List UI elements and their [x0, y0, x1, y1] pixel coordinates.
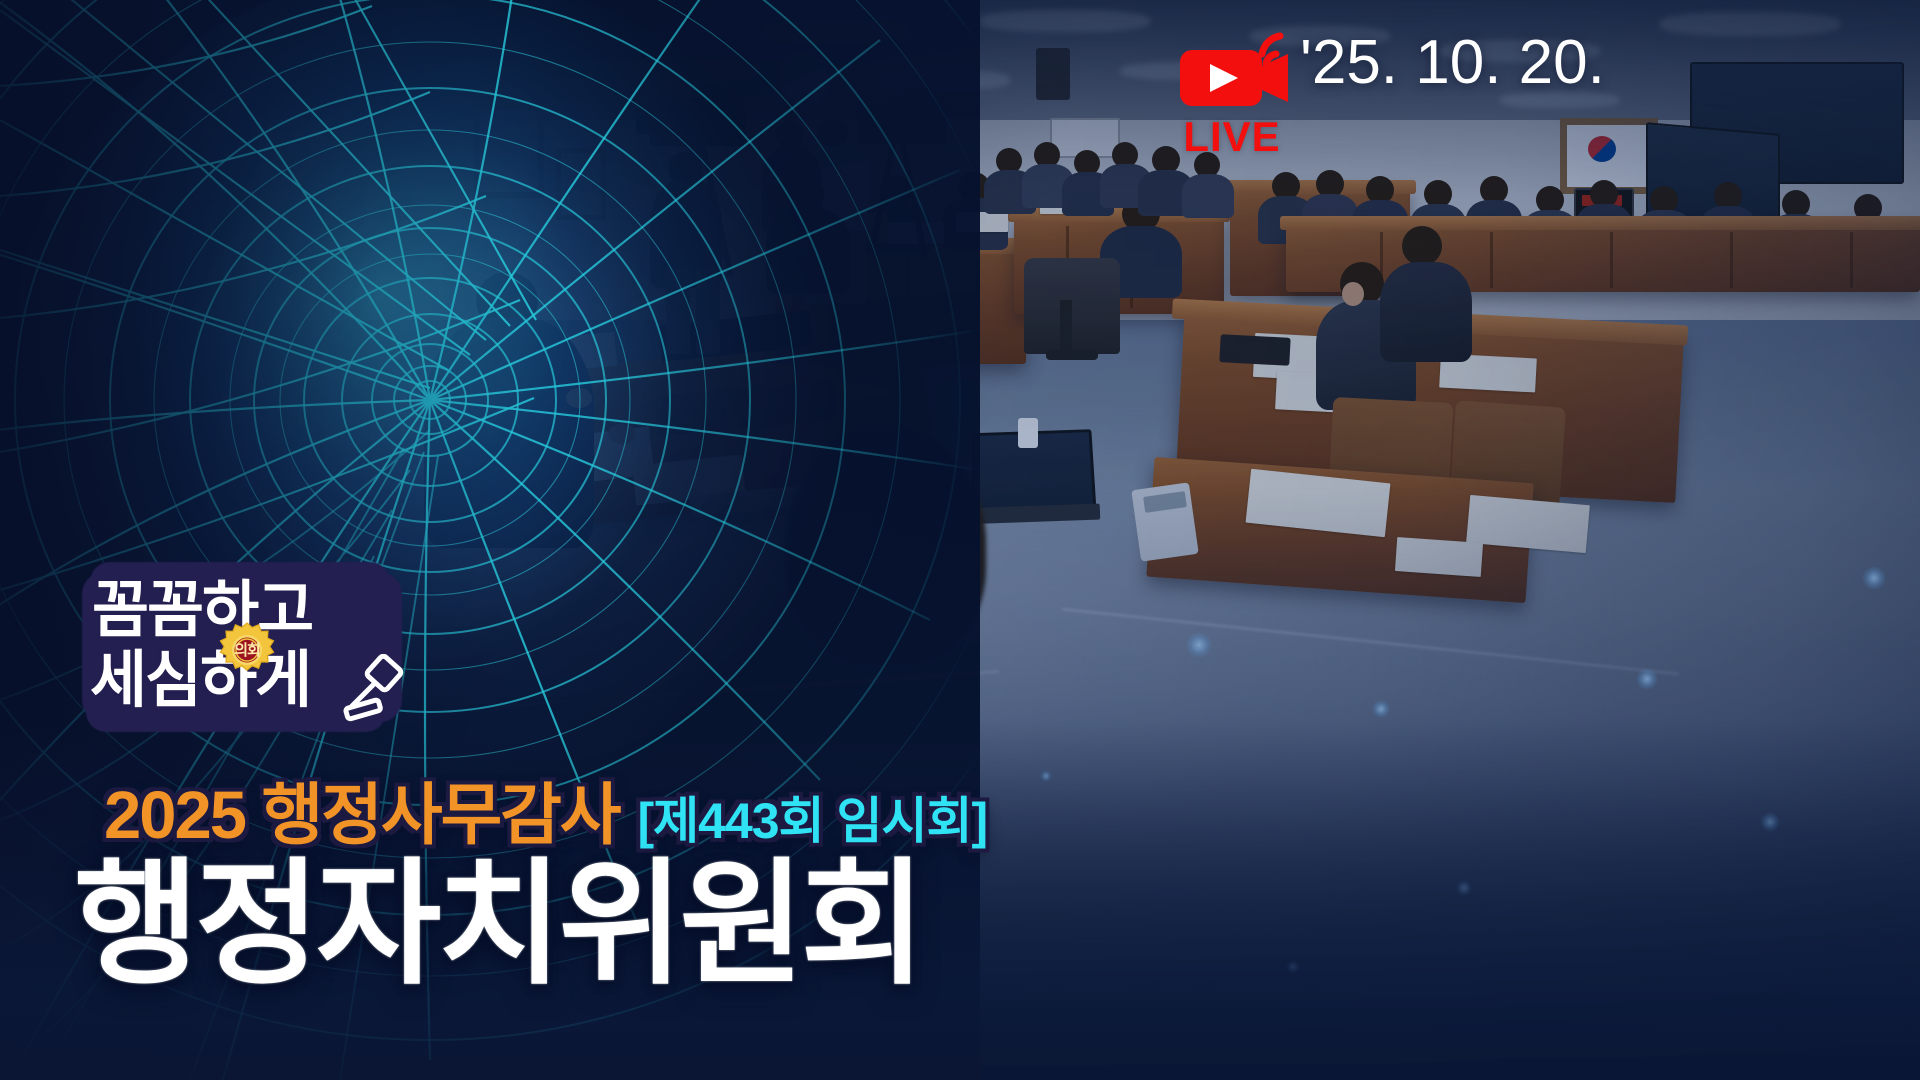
bokeh-dot: [1372, 700, 1390, 718]
logo-line-2: 세심하게: [90, 650, 310, 712]
broadcast-title-card: LIVE '25. 10. 20. 꼼꼼하고 세심하게 의회: [0, 0, 1920, 1080]
gavel-icon: [340, 654, 412, 722]
council-seal-icon: 의회: [219, 622, 275, 678]
bokeh-dot: [1636, 668, 1658, 690]
event-title: 2025 행정사무감사: [104, 782, 620, 849]
bokeh-dot: [1286, 960, 1300, 974]
bokeh-dot: [1186, 632, 1212, 658]
seal-label: 의회: [219, 639, 275, 660]
program-logo: 꼼꼼하고 세심하게 의회: [88, 578, 418, 738]
bokeh-dot: [1040, 770, 1052, 782]
bokeh-dot: [1862, 566, 1886, 590]
logo-line-1: 꼼꼼하고: [92, 580, 312, 642]
subtitle-row: 2025 행정사무감사 [제443회 임시회]: [104, 782, 987, 858]
live-badge: LIVE: [1176, 24, 1296, 164]
session-tag: [제443회 임시회]: [638, 796, 988, 846]
committee-title: 행정자치위원회: [74, 856, 922, 992]
video-camera-icon: [1176, 24, 1296, 120]
live-label: LIVE: [1176, 116, 1288, 158]
bokeh-dot: [1760, 812, 1780, 832]
broadcast-date: '25. 10. 20.: [1300, 27, 1605, 98]
bokeh-dot: [1456, 880, 1472, 896]
